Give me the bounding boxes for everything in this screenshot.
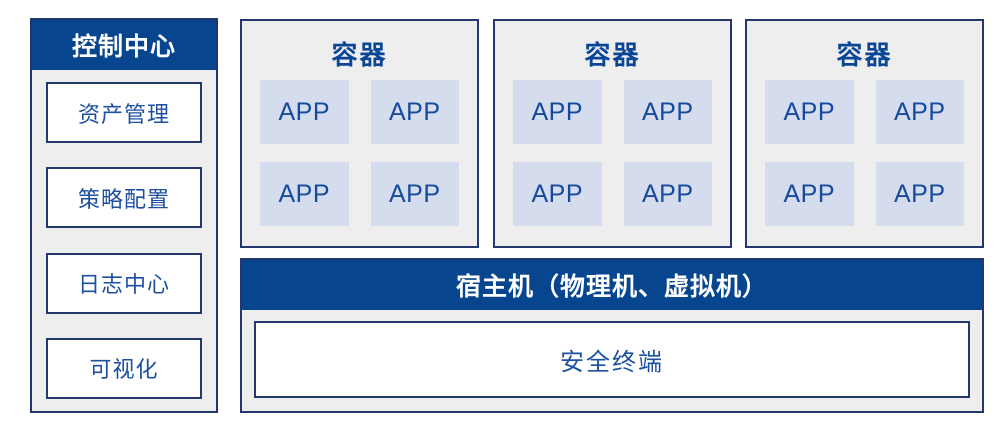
control-center-header: 控制中心: [32, 20, 216, 70]
control-center-item-visualization[interactable]: 可视化: [46, 338, 202, 399]
app-box[interactable]: APP: [876, 80, 965, 144]
app-box[interactable]: APP: [624, 162, 713, 226]
app-box[interactable]: APP: [624, 80, 713, 144]
app-box[interactable]: APP: [260, 162, 349, 226]
control-center-items-list: 资产管理 策略配置 日志中心 可视化: [32, 70, 216, 411]
control-center-item-log-center[interactable]: 日志中心: [46, 253, 202, 314]
control-center-panel: 控制中心 资产管理 策略配置 日志中心 可视化: [30, 18, 218, 413]
host-machine-body: 安全终端: [242, 310, 982, 411]
app-grid: APP APP APP APP: [495, 80, 730, 246]
app-box[interactable]: APP: [765, 80, 854, 144]
container-panel-2: 容器 APP APP APP APP: [493, 19, 732, 248]
app-box[interactable]: APP: [371, 162, 460, 226]
control-center-item-policy-configuration[interactable]: 策略配置: [46, 167, 202, 228]
secure-endpoint-box[interactable]: 安全终端: [254, 321, 970, 398]
app-box[interactable]: APP: [876, 162, 965, 226]
app-box[interactable]: APP: [260, 80, 349, 144]
app-grid: APP APP APP APP: [747, 80, 982, 246]
host-machine-header: 宿主机（物理机、虚拟机）: [242, 260, 982, 310]
control-center-item-asset-management[interactable]: 资产管理: [46, 82, 202, 143]
app-box[interactable]: APP: [513, 162, 602, 226]
container-panel-3: 容器 APP APP APP APP: [745, 19, 984, 248]
app-box[interactable]: APP: [513, 80, 602, 144]
architecture-diagram: 控制中心 资产管理 策略配置 日志中心 可视化 容器 APP APP APP A…: [0, 0, 1001, 437]
container-panel-1: 容器 APP APP APP APP: [240, 19, 479, 248]
app-grid: APP APP APP APP: [242, 80, 477, 246]
app-box[interactable]: APP: [765, 162, 854, 226]
app-box[interactable]: APP: [371, 80, 460, 144]
container-title: 容器: [331, 35, 387, 72]
host-machine-panel: 宿主机（物理机、虚拟机） 安全终端: [240, 258, 984, 413]
container-title: 容器: [584, 35, 640, 72]
container-title: 容器: [836, 35, 892, 72]
